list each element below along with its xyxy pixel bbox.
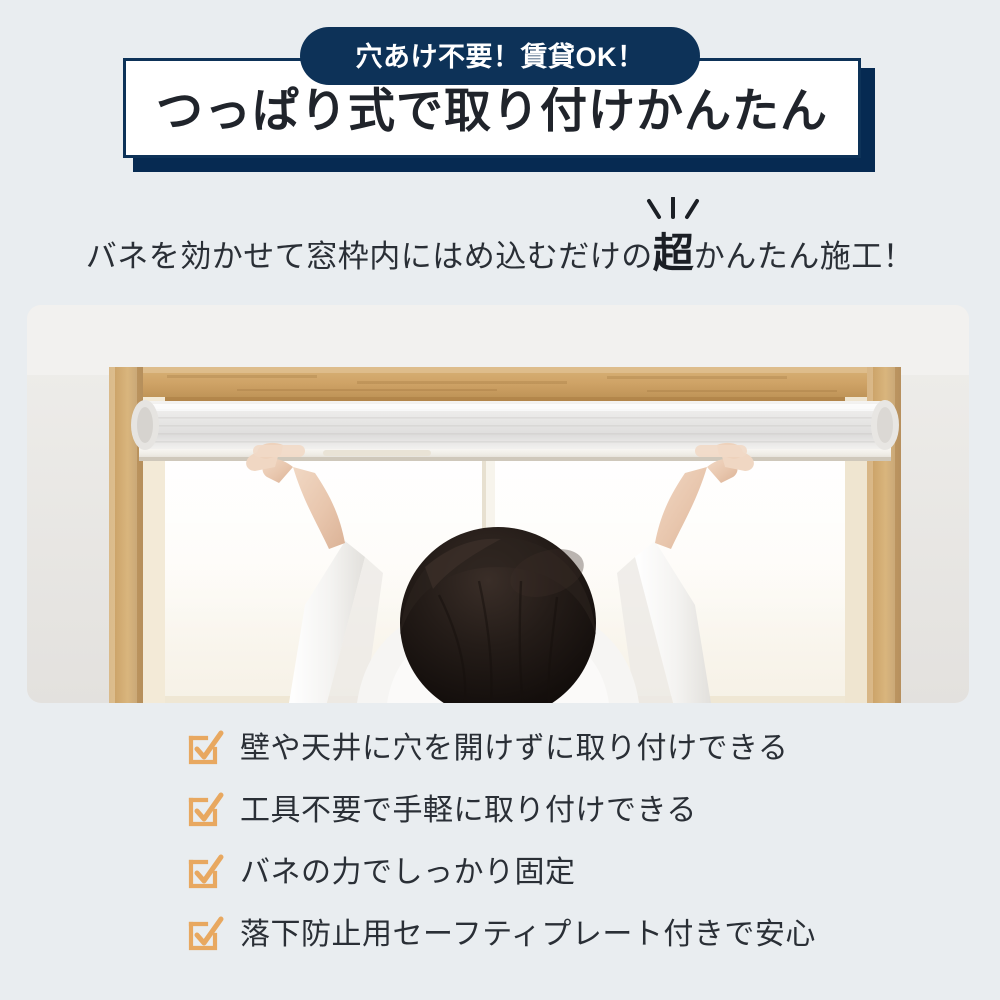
sparkle-lines-icon bbox=[642, 197, 704, 227]
list-item: 落下防止用セーフティプレート付きで安心 bbox=[0, 904, 1000, 966]
list-item-label: 工具不要で手軽に取り付けできる bbox=[240, 796, 697, 826]
list-item: 壁や天井に穴を開けずに取り付けできる bbox=[0, 718, 1000, 780]
feature-list: 壁や天井に穴を開けずに取り付けできる 工具不要で手軽に取り付けできる バネの力で… bbox=[0, 718, 1000, 966]
check-box-icon bbox=[186, 729, 224, 767]
subtitle-emphasis-group: 超 bbox=[653, 233, 694, 274]
product-photo bbox=[27, 305, 969, 703]
subtitle-emphasis: 超 bbox=[653, 230, 694, 276]
list-item: 工具不要で手軽に取り付けできる bbox=[0, 780, 1000, 842]
check-box-icon bbox=[186, 853, 224, 891]
header-banner: つっぱり式で取り付けかんたん 穴あけ不要！賃貸OK！ bbox=[0, 0, 1000, 180]
subtitle-text-after: かんたん施工！ bbox=[694, 241, 915, 272]
status-badge-label: 穴あけ不要！賃貸OK！ bbox=[356, 42, 645, 71]
list-item-label: 落下防止用セーフティプレート付きで安心 bbox=[240, 920, 816, 950]
subtitle: バネを効かせて窓枠内にはめ込むだけの 超かんたん施工！ bbox=[0, 196, 1000, 286]
check-box-icon bbox=[186, 791, 224, 829]
list-item-label: バネの力でしっかり固定 bbox=[240, 858, 576, 888]
subtitle-text-before: バネを効かせて窓枠内にはめ込むだけの bbox=[86, 241, 653, 272]
page-title: つっぱり式で取り付けかんたん bbox=[156, 83, 828, 134]
list-item: バネの力でしっかり固定 bbox=[0, 842, 1000, 904]
list-item-label: 壁や天井に穴を開けずに取り付けできる bbox=[240, 734, 788, 764]
status-badge: 穴あけ不要！賃貸OK！ bbox=[300, 27, 700, 85]
check-box-icon bbox=[186, 915, 224, 953]
